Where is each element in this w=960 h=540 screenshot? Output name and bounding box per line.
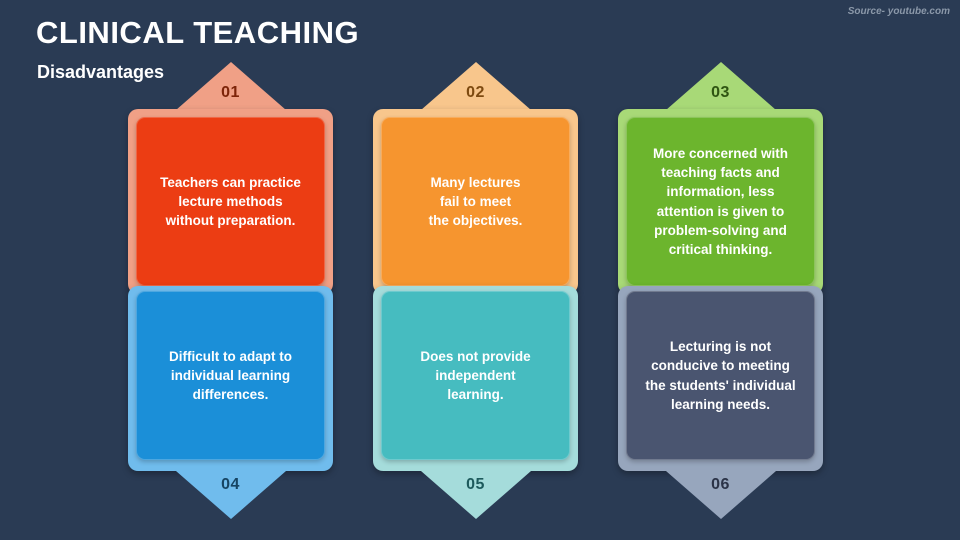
- card-text: More concerned with teaching facts and i…: [653, 144, 788, 259]
- card-05[interactable]: 05 Does not provide independent learning…: [373, 286, 578, 514]
- card-04[interactable]: 04 Difficult to adapt to individual lear…: [128, 286, 333, 514]
- card-01[interactable]: 01 Teachers can practice lecture methods…: [128, 62, 333, 295]
- source-credit: Source- youtube.com: [848, 6, 950, 17]
- card-06[interactable]: 06 Lecturing is not conducive to meeting…: [618, 286, 823, 514]
- card-body[interactable]: Many lectures fail to meet the objective…: [381, 117, 570, 286]
- card-text: Difficult to adapt to individual learnin…: [169, 347, 292, 404]
- card-02[interactable]: 02 Many lectures fail to meet the object…: [373, 62, 578, 295]
- card-03[interactable]: 03 More concerned with teaching facts an…: [618, 62, 823, 295]
- card-body[interactable]: Does not provide independent learning.: [381, 291, 570, 460]
- card-body[interactable]: Difficult to adapt to individual learnin…: [136, 291, 325, 460]
- card-body[interactable]: Teachers can practice lecture methods wi…: [136, 117, 325, 286]
- card-text: Teachers can practice lecture methods wi…: [160, 173, 301, 230]
- card-number: 04: [128, 476, 333, 494]
- card-text: Lecturing is not conducive to meeting th…: [645, 337, 795, 414]
- page-title: CLINICAL TEACHING: [36, 16, 359, 50]
- card-number: 05: [373, 476, 578, 494]
- card-number: 03: [618, 84, 823, 102]
- card-text: Many lectures fail to meet the objective…: [429, 173, 523, 230]
- card-number: 01: [128, 84, 333, 102]
- card-number: 02: [373, 84, 578, 102]
- slide-canvas: CLINICAL TEACHING Disadvantages Source- …: [0, 0, 960, 540]
- card-text: Does not provide independent learning.: [420, 347, 530, 404]
- card-body[interactable]: Lecturing is not conducive to meeting th…: [626, 291, 815, 460]
- card-number: 06: [618, 476, 823, 494]
- card-body[interactable]: More concerned with teaching facts and i…: [626, 117, 815, 286]
